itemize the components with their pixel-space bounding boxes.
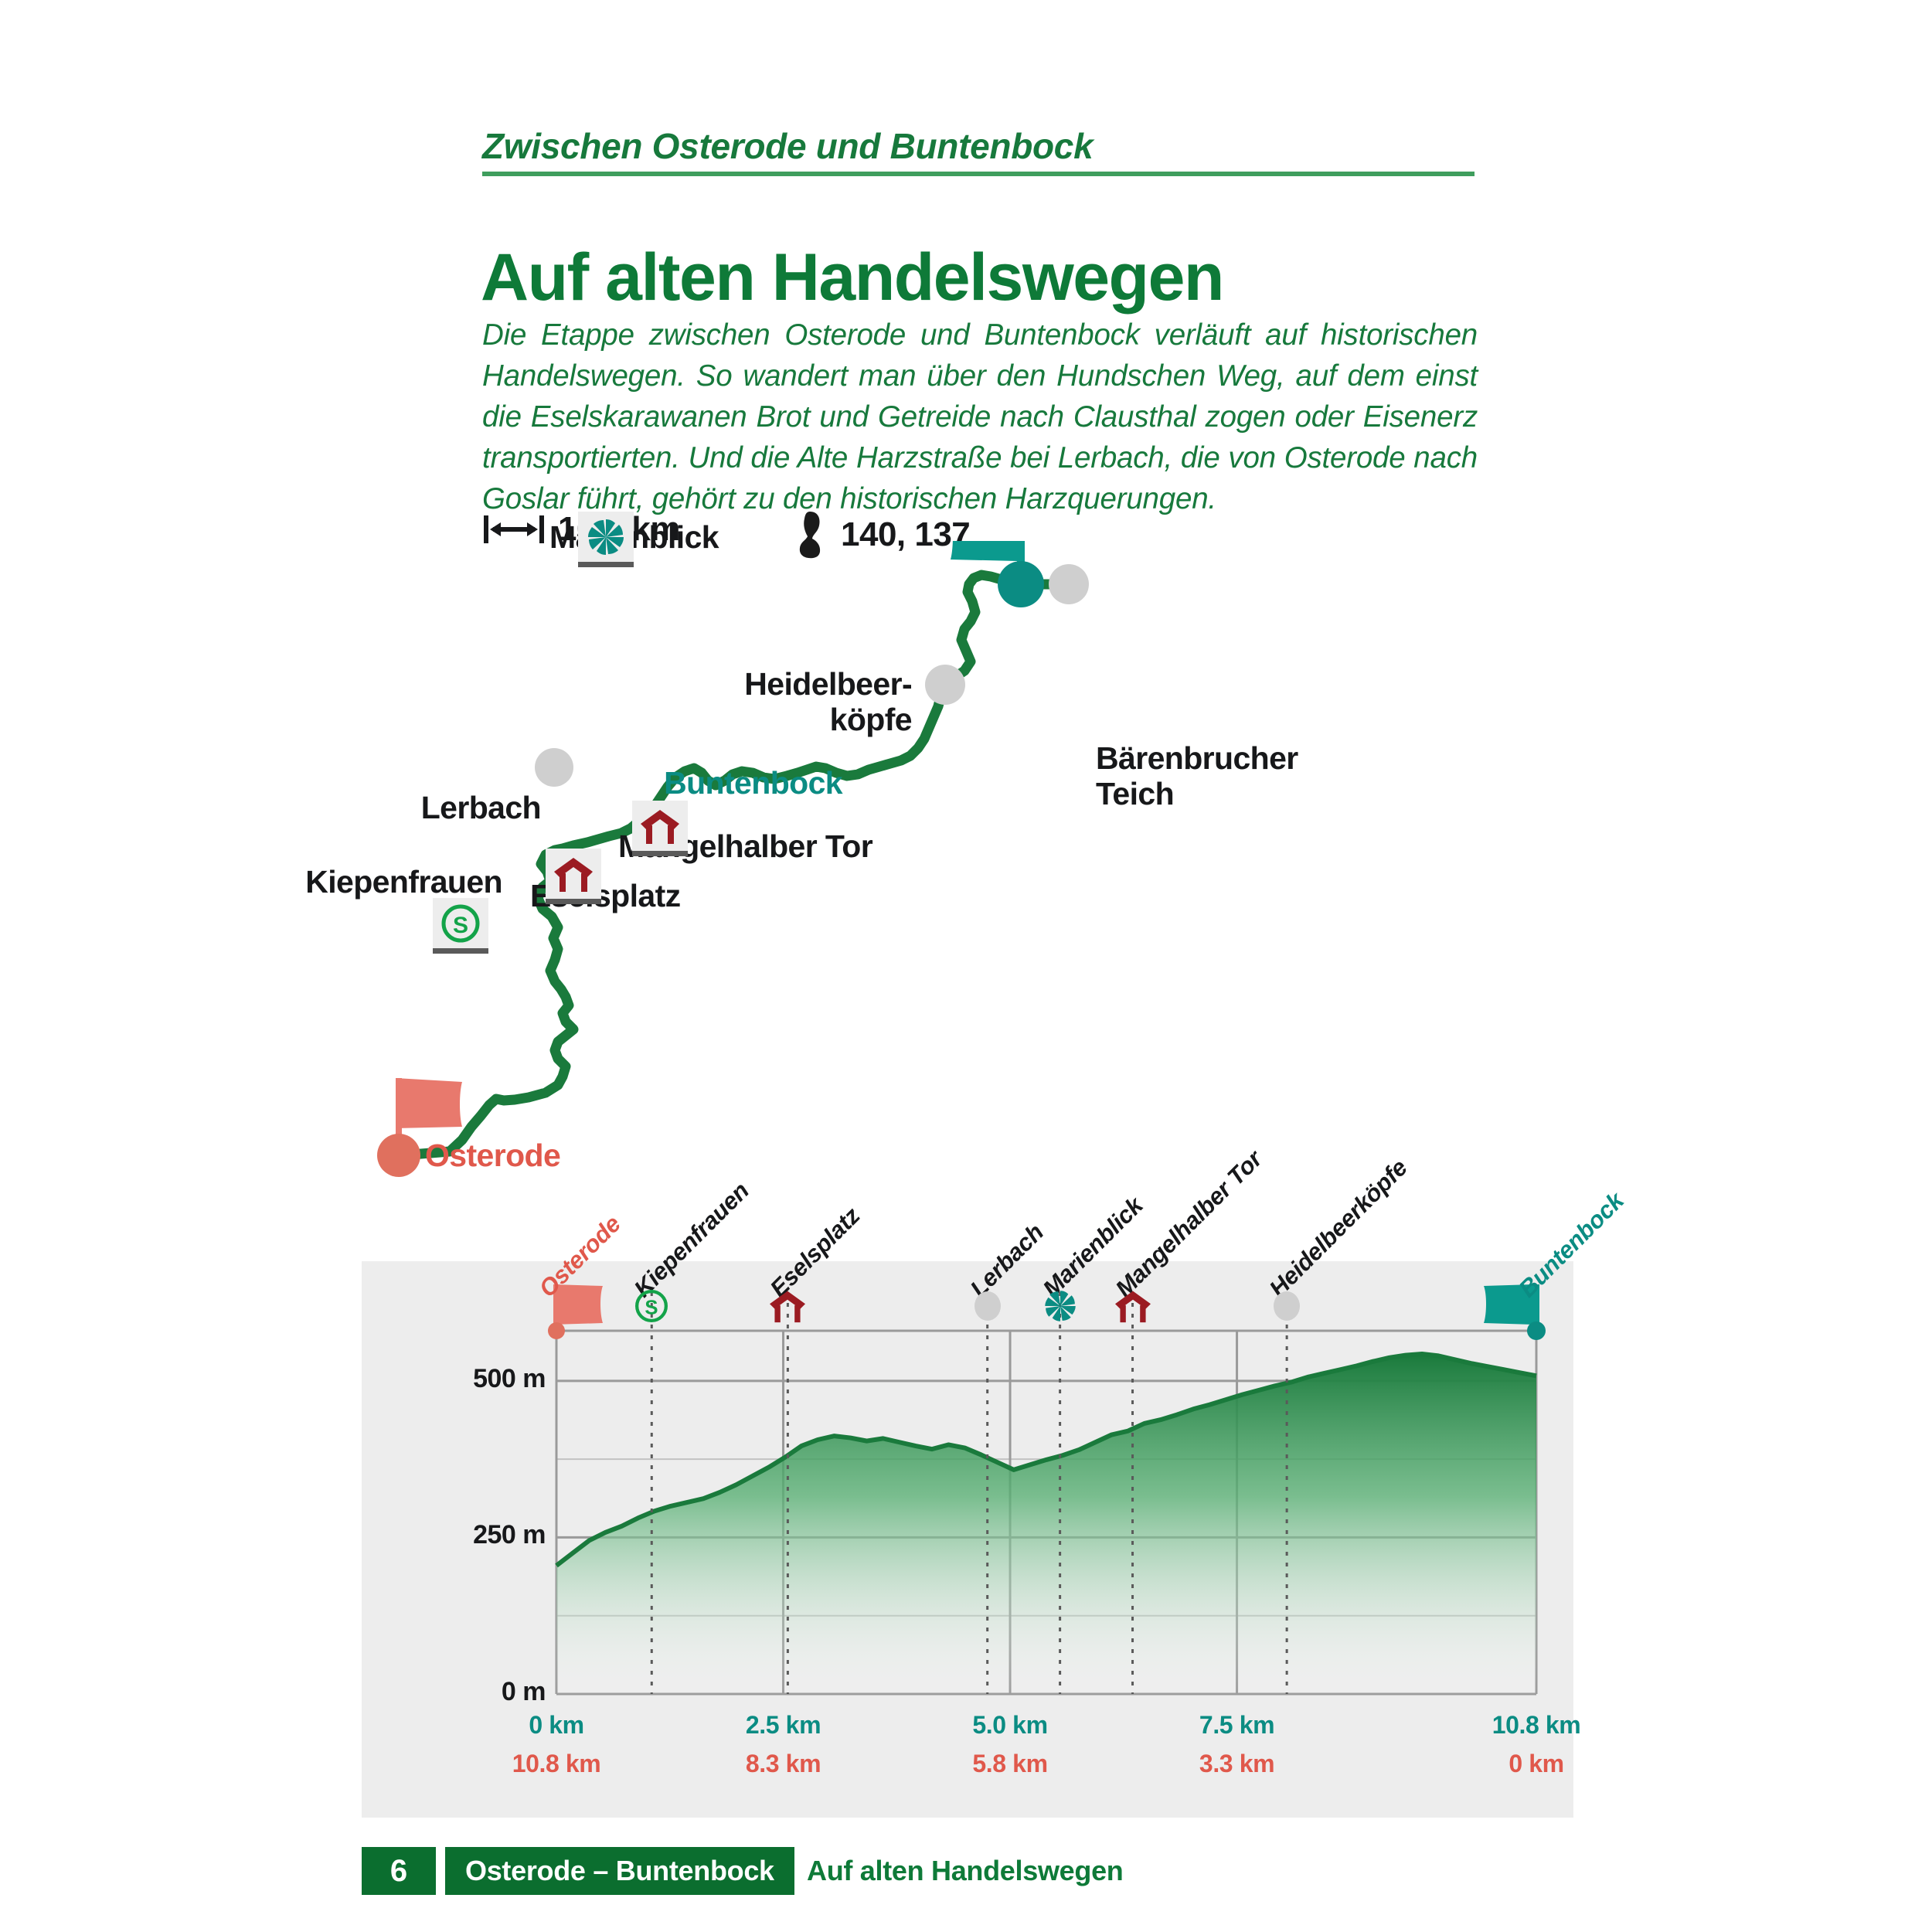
- x-tick-reverse-0: 10.8 km: [479, 1750, 634, 1778]
- viewpoint-rosette-icon-marienblick: [578, 512, 634, 567]
- x-tick-reverse-3: 3.3 km: [1160, 1750, 1315, 1778]
- map-label-lerbach: Lerbach: [270, 790, 541, 825]
- footer-title: Auf alten Handelswegen: [807, 1847, 1123, 1895]
- map-label-kiepenfrauen: Kiepenfrauen: [224, 864, 502, 900]
- route-map-svg: [363, 541, 1569, 1206]
- y-tick-label-1: 250 m: [408, 1520, 546, 1550]
- x-tick-reverse-2: 5.8 km: [933, 1750, 1087, 1778]
- kicker-divider: [482, 172, 1475, 176]
- map-label-buntenbock: Buntenbock: [549, 765, 842, 801]
- map-label-osterode: Osterode: [425, 1138, 560, 1173]
- page-root: Zwischen Osterode und Buntenbock Auf alt…: [0, 0, 1932, 1932]
- kicker-text: Zwischen Osterode und Buntenbock: [482, 125, 1487, 167]
- map-label-heidelbeerkoepfe-line1: Heidelbeer-: [595, 666, 912, 702]
- start-dot: [377, 1134, 420, 1177]
- x-tick-forward-1: 2.5 km: [706, 1711, 861, 1740]
- end-dot: [998, 561, 1044, 607]
- viewpoint-rosette-icon-profile-4: [1040, 1284, 1080, 1328]
- map-label-heidelbeerkoepfe-line2: köpfe: [595, 702, 912, 737]
- sculpture-s-icon-profile-1: S: [631, 1284, 672, 1328]
- map-label-baerenbrucher-line1: Bärenbrucher: [1096, 740, 1298, 776]
- shelter-hut-icon-profile-5: [1113, 1284, 1153, 1328]
- footer-page-number: 6: [362, 1847, 436, 1895]
- x-tick-forward-2: 5.0 km: [933, 1711, 1087, 1740]
- svg-text:S: S: [645, 1297, 658, 1318]
- shelter-hut-icon-mangelhalber-tor: [632, 801, 688, 856]
- map-label-marienblick: Marienblick: [410, 519, 719, 555]
- route-map: Buntenbock Bärenbrucher Teich Heidelbeer…: [363, 541, 1569, 1206]
- shelter-hut-icon-profile-2: [767, 1284, 808, 1328]
- waypoint-dot-icon-profile-3: [968, 1284, 1008, 1328]
- map-label-baerenbrucher-line2: Teich: [1096, 776, 1174, 811]
- x-tick-forward-0: 0 km: [479, 1711, 634, 1740]
- waypoint-dot-icon-profile-6: [1267, 1284, 1307, 1328]
- x-tick-reverse-1: 8.3 km: [706, 1750, 861, 1778]
- waypoint-dot-icon-heidelbeerkoepfe: [925, 665, 965, 705]
- elevation-profile-panel: OsterodeKiepenfrauenEselsplatzLerbachMar…: [362, 1261, 1573, 1818]
- y-tick-label-0: 0 m: [408, 1677, 546, 1707]
- waypoint-dot-icon-baerenbrucher: [1049, 564, 1089, 604]
- svg-text:S: S: [453, 913, 468, 938]
- sculpture-s-icon-kiepenfrauen: S: [433, 898, 488, 954]
- intro-paragraph: Die Etappe zwischen Osterode und Buntenb…: [482, 315, 1478, 519]
- x-tick-reverse-4: 0 km: [1459, 1750, 1614, 1778]
- shelter-hut-icon-eselsplatz: [546, 849, 601, 904]
- x-tick-forward-4: 10.8 km: [1459, 1711, 1614, 1740]
- y-tick-label-2: 500 m: [408, 1364, 546, 1394]
- footer-stage-badge: Osterode – Buntenbock: [445, 1847, 794, 1895]
- page-title: Auf alten Handelswegen: [481, 240, 1524, 316]
- x-tick-forward-3: 7.5 km: [1160, 1711, 1315, 1740]
